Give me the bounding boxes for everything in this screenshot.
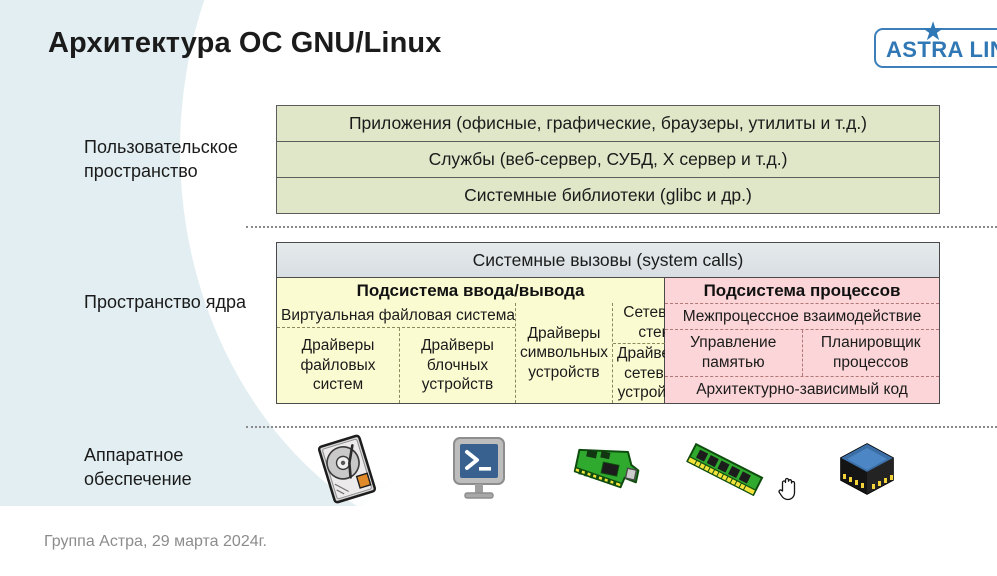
divider-user-kernel [246,226,997,228]
io-cell-char-drivers: Драйверы символьных устройств [516,324,612,383]
io-cell-fs-drivers: Драйверы файловых систем [277,336,399,395]
astra-linux-logo-text: ASTRA LIN [886,37,997,63]
mouse-cursor-open-hand [777,475,799,501]
io-column-char-devices: Драйверы символьных устройств [516,303,613,403]
user-space-row-applications: Приложения (офисные, графические, браузе… [277,106,939,142]
process-subsystem-title: Подсистема процессов [665,278,939,303]
io-cell-wrap-block-drivers: Драйверы блочных устройств [400,328,515,403]
hard-disk-icon [304,434,390,504]
io-cell-block-drivers: Драйверы блочных устройств [400,336,515,395]
network-card-icon [564,434,650,504]
io-subsystem-panel: Подсистема ввода/вывода Виртуальная файл… [277,278,665,403]
io-subsystem-grid: Виртуальная файловая система Драйверы фа… [277,303,664,403]
slide-content: Архитектура ОС GNU/Linux ★ ASTRA LIN Пол… [0,0,997,576]
io-cell-wrap-fs-drivers: Драйверы файловых систем [277,328,400,403]
zone-label-kernel-space: Пространство ядра [84,291,289,315]
io-driver-split: Драйверы файловых систем Драйверы блочны… [277,328,515,403]
process-cell-arch-code: Архитектурно-зависимый код [665,376,939,403]
io-subsystem-title: Подсистема ввода/вывода [277,278,664,303]
user-space-stack: Приложения (офисные, графические, браузе… [276,105,940,214]
kernel-subsystems: Подсистема ввода/вывода Виртуальная файл… [277,278,939,403]
astra-linux-logo: ★ ASTRA LIN [874,28,997,68]
memory-module-icon [682,434,768,504]
io-column-storage: Виртуальная файловая система Драйверы фа… [277,303,516,403]
process-row-memory-scheduler: Управление памятью Планировщик процессов [665,329,939,376]
cpu-chip-icon [824,434,910,504]
kernel-space-stack: Системные вызовы (system calls) Подсисте… [276,242,940,404]
page-title: Архитектура ОС GNU/Linux [48,27,441,60]
user-space-row-services: Службы (веб-сервер, СУБД, X сервер и т.д… [277,142,939,178]
zone-label-hardware: Аппаратное обеспечение [84,444,289,492]
process-subsystem-panel: Подсистема процессов Межпроцессное взаим… [665,278,939,403]
divider-kernel-hardware [246,426,997,428]
footer-note: Группа Астра, 29 марта 2024г. [44,533,267,551]
process-cell-scheduler: Планировщик процессов [803,330,940,376]
system-calls-bar: Системные вызовы (system calls) [277,243,939,278]
zone-label-user-space: Пользовательское пространство [84,136,289,184]
user-space-row-libraries: Системные библиотеки (glibc и др.) [277,178,939,213]
process-cell-ipc: Межпроцессное взаимодействие [665,303,939,329]
process-cell-memory-management: Управление памятью [665,330,803,376]
io-cell-virtual-filesystem: Виртуальная файловая система [277,303,515,328]
terminal-monitor-icon [436,434,522,504]
hardware-icon-row [276,434,940,504]
